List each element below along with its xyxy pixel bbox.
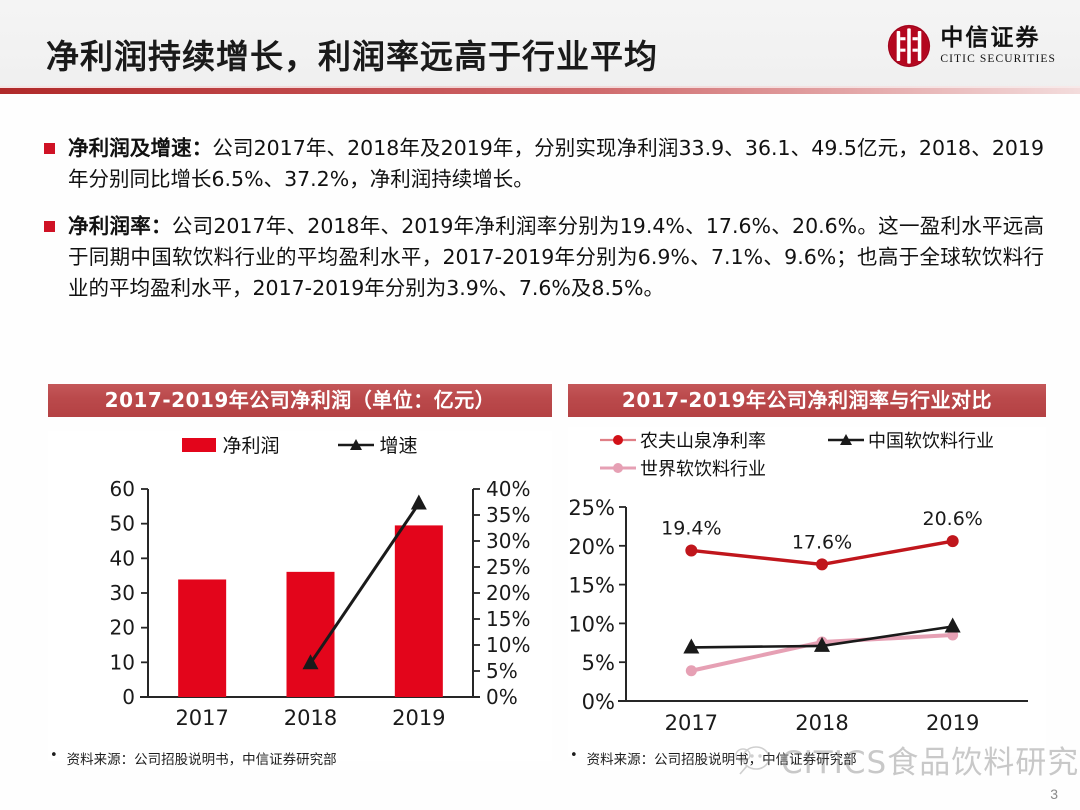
left-axis-tick-label: 5% <box>582 651 615 675</box>
logo-label-en: CITIC SECURITIES <box>940 54 1056 66</box>
legend-item-nongfu: 农夫山泉净利率 <box>600 427 828 453</box>
circle-line-icon <box>600 433 636 447</box>
footnote-left: • 资料来源：公司招股说明书，中信证券研究部 <box>50 748 337 768</box>
net-profit-panel: 2017-2019年公司净利润（单位：亿元） 净利润 增速 <box>48 384 552 761</box>
legend-item-growth: 增速 <box>338 431 418 458</box>
red-square-bullet-icon <box>44 221 55 232</box>
legend-label: 中国软饮料行业 <box>868 427 994 453</box>
left-axis-tick-label: 60 <box>110 477 135 501</box>
x-axis-tick-label: 2017 <box>175 706 228 730</box>
series-marker <box>816 558 828 570</box>
net-margin-chart-body: 农夫山泉净利率 中国软饮料行业 <box>568 427 1046 757</box>
left-axis-tick-label: 20% <box>568 535 615 559</box>
series-marker <box>683 638 699 653</box>
bullet-list: 净利润及增速：公司2017年、2018年及2019年，分别实现净利润33.9、3… <box>44 133 1044 320</box>
left-axis-tick-label: 0% <box>582 690 615 714</box>
right-axis-tick-label: 30% <box>486 529 530 553</box>
bullet-sentence: 公司2017年、2018年、2019年净利润率分别为19.4%、17.6%、20… <box>68 214 1044 300</box>
left-axis-tick-label: 50 <box>110 512 135 536</box>
data-label: 17.6% <box>792 531 852 553</box>
growth-line-marker <box>411 495 427 510</box>
bullet-text: 净利润率：公司2017年、2018年、2019年净利润率分别为19.4%、17.… <box>68 211 1044 304</box>
net-profit-plot: 0102030405060 0%5%10%15%20%25%30%35%40% … <box>48 475 552 745</box>
slide-root: 净利润持续增长，利润率远高于行业平均 中信证券 CITIC SEC <box>0 0 1080 810</box>
net-profit-chart-title: 2017-2019年公司净利润（单位：亿元） <box>48 384 552 417</box>
x-axis-tick-label: 2018 <box>795 711 848 735</box>
left-axis-tick-label: 10 <box>110 650 135 674</box>
right-axis-tick-label: 0% <box>486 685 518 709</box>
legend-item-world-soft-drink: 世界软饮料行业 <box>600 455 828 481</box>
series-marker <box>685 544 697 556</box>
circle-line-icon <box>600 461 636 475</box>
triangle-line-icon <box>828 433 864 447</box>
triangle-line-icon <box>338 438 374 452</box>
series-marker <box>945 618 961 633</box>
logo-label-cn: 中信证券 <box>940 27 1056 50</box>
left-axis-tick-label: 15% <box>568 574 615 598</box>
red-square-bullet-icon <box>44 143 55 154</box>
bullet-item-net-profit: 净利润及增速：公司2017年、2018年及2019年，分别实现净利润33.9、3… <box>44 133 1044 195</box>
legend-label: 增速 <box>380 431 418 458</box>
footnote-right: • 资料来源：公司招股说明书，中信证券研究部 <box>570 748 857 768</box>
footnote-text: 资料来源：公司招股说明书，中信证券研究部 <box>587 748 857 768</box>
citic-logo-mark-icon <box>887 24 931 68</box>
series-marker <box>947 535 959 547</box>
right-axis-tick-label: 15% <box>486 607 530 631</box>
bullet-text: 净利润及增速：公司2017年、2018年及2019年，分别实现净利润33.9、3… <box>68 133 1044 195</box>
header-rule <box>0 88 1080 94</box>
right-axis-tick-label: 40% <box>486 477 530 501</box>
left-axis-tick-label: 10% <box>568 612 615 636</box>
bar-swatch-icon <box>182 438 216 452</box>
x-axis-tick-label: 2019 <box>926 711 979 735</box>
right-axis-tick-label: 10% <box>486 633 530 657</box>
bullet-item-net-margin: 净利润率：公司2017年、2018年、2019年净利润率分别为19.4%、17.… <box>44 211 1044 304</box>
net-margin-legend: 农夫山泉净利率 中国软饮料行业 <box>568 427 1046 481</box>
page-title: 净利润持续增长，利润率远高于行业平均 <box>46 30 658 78</box>
right-axis-tick-label: 20% <box>486 581 530 605</box>
legend-label: 农夫山泉净利率 <box>640 427 766 453</box>
bullet-label: 净利润及增速： <box>68 136 212 160</box>
right-axis-tick-label: 5% <box>486 659 518 683</box>
legend-item-net-profit: 净利润 <box>182 431 279 458</box>
series-line-segment <box>691 646 822 648</box>
left-axis-tick-label: 20 <box>110 616 135 640</box>
x-axis-tick-label: 2018 <box>284 706 337 730</box>
bullet-sentence: 公司2017年、2018年及2019年，分别实现净利润33.9、36.1、49.… <box>68 136 1044 191</box>
net-profit-chart-body: 净利润 增速 0102030405060 <box>48 431 552 761</box>
left-axis-tick-label: 30 <box>110 581 135 605</box>
left-axis-tick-label: 0 <box>122 685 135 709</box>
footnote-text: 资料来源：公司招股说明书，中信证券研究部 <box>67 748 337 768</box>
bar <box>178 579 226 697</box>
net-profit-svg: 0102030405060 0%5%10%15%20%25%30%35%40% … <box>48 475 552 745</box>
right-axis-tick-label: 35% <box>486 503 530 527</box>
bar <box>395 525 443 697</box>
left-axis-tick-label: 40 <box>110 546 135 570</box>
data-label: 19.4% <box>661 517 721 539</box>
net-margin-panel: 2017-2019年公司净利润率与行业对比 农夫山泉净利率 <box>568 384 1046 757</box>
bullet-label: 净利润率： <box>68 214 172 238</box>
page-number: 3 <box>1050 786 1058 802</box>
left-axis-tick-label: 25% <box>568 496 615 520</box>
right-axis-tick-label: 25% <box>486 555 530 579</box>
footnote-dot-icon: • <box>570 748 578 764</box>
net-margin-chart-title: 2017-2019年公司净利润率与行业对比 <box>568 384 1046 417</box>
data-label: 20.6% <box>922 508 982 530</box>
citic-logo: 中信证券 CITIC SECURITIES <box>887 24 1056 68</box>
net-profit-legend: 净利润 增速 <box>48 431 552 458</box>
legend-item-china-soft-drink: 中国软饮料行业 <box>828 427 1064 453</box>
legend-label: 世界软饮料行业 <box>640 455 766 481</box>
legend-label: 净利润 <box>222 431 279 458</box>
net-margin-plot: 0%5%10%15%20%25% 19.4%17.6%20.6% 2017201… <box>568 493 1046 743</box>
net-margin-svg: 0%5%10%15%20%25% 19.4%17.6%20.6% 2017201… <box>568 493 1046 743</box>
citic-logo-text: 中信证券 CITIC SECURITIES <box>940 27 1056 66</box>
bar <box>287 572 335 697</box>
x-axis-tick-label: 2017 <box>665 711 718 735</box>
series-marker <box>686 665 697 676</box>
footnote-dot-icon: • <box>50 748 58 764</box>
x-axis-tick-label: 2019 <box>392 706 445 730</box>
